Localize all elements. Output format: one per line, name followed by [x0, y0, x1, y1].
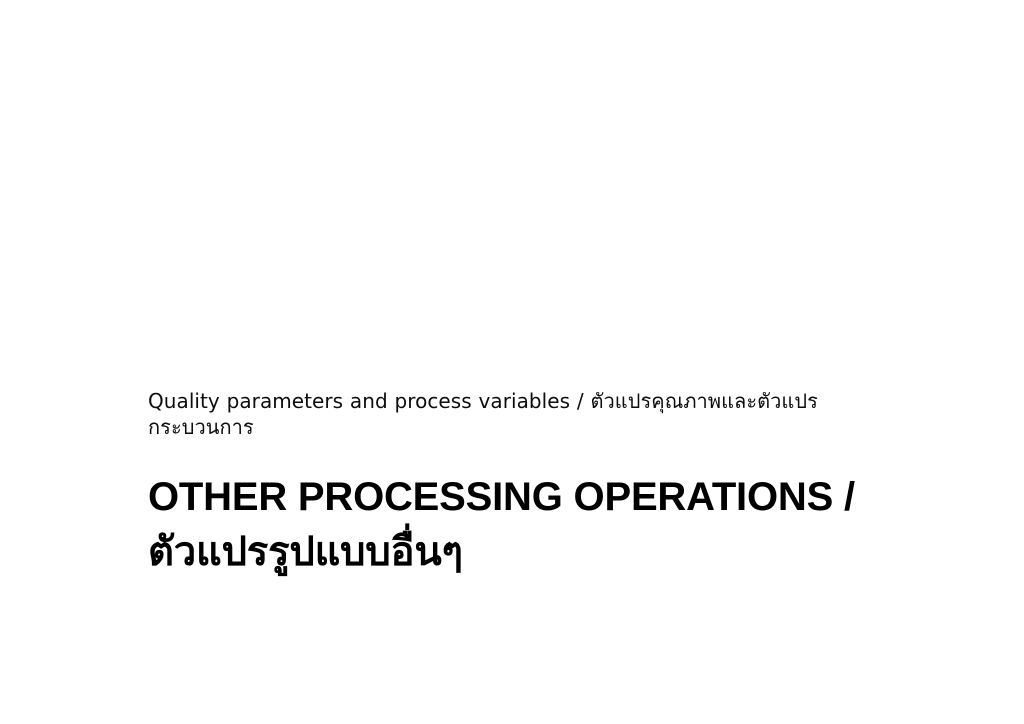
subtitle-block: Quality parameters and process variables…: [148, 388, 838, 440]
page-title: OTHER PROCESSING OPERATIONS / ตัวแปรรูปแ…: [148, 470, 908, 580]
slide-subtitle: Quality parameters and process variables…: [148, 388, 838, 440]
title-block: OTHER PROCESSING OPERATIONS / ตัวแปรรูปแ…: [148, 470, 908, 580]
slide-canvas: Quality parameters and process variables…: [0, 0, 1024, 724]
